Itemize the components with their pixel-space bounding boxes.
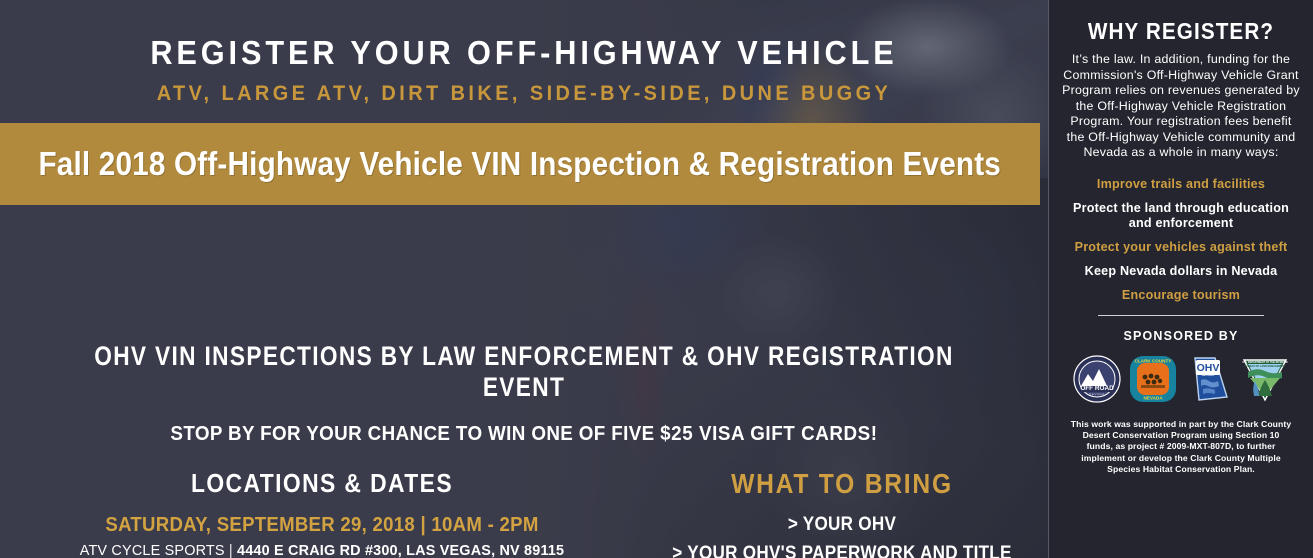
main-panel: REGISTER YOUR OFF-HIGHWAY VEHICLE ATV, L… — [0, 0, 1048, 558]
bring-item: > YOUR OHV'S PAPERWORK AND TITLE — [660, 543, 1024, 558]
clark-county-nevada-logo: CLARK COUNTY NEVADA — [1129, 355, 1177, 403]
prize-line: STOP BY FOR YOUR CHANCE TO WIN ONE OF FI… — [31, 423, 1016, 446]
locations-title: LOCATIONS & DATES — [42, 468, 602, 499]
event-street: 4440 E CRAIG RD #300, LAS VEGAS, NV 8911… — [237, 542, 564, 558]
event-subheadline: OHV VIN INSPECTIONS BY LAW ENFORCEMENT &… — [84, 341, 964, 403]
sidebar-paragraph: It’s the law. In addition, funding for t… — [1062, 52, 1300, 161]
benefit-item: Encourage tourism — [1062, 288, 1300, 303]
sponsored-by-label: SPONSORED BY — [1062, 329, 1300, 343]
benefit-item: Protect your vehicles against theft — [1062, 240, 1300, 255]
svg-text:OFF ROAD: OFF ROAD — [1080, 385, 1114, 392]
off-road-nevada-logo: OFF ROAD NEVADA — [1073, 355, 1121, 403]
why-register-sidebar: WHY REGISTER? It’s the law. In addition,… — [1049, 0, 1313, 558]
event-address: ATV CYCLE SPORTS | 4440 E CRAIG RD #300,… — [17, 542, 628, 558]
svg-text:NEVADA: NEVADA — [1089, 392, 1105, 396]
event-separator: | — [225, 542, 237, 558]
bring-item: > YOUR OHV — [660, 514, 1024, 536]
benefits-list: Improve trails and facilities Protect th… — [1062, 177, 1300, 303]
locations-column: LOCATIONS & DATES SATURDAY, SEPTEMBER 29… — [0, 468, 640, 558]
svg-text:BUREAU OF LAND MANAGEMENT: BUREAU OF LAND MANAGEMENT — [1244, 365, 1286, 368]
blm-logo: U.S. DEPARTMENT OF THE INTERIOR BUREAU O… — [1241, 355, 1289, 403]
svg-text:U.S. DEPARTMENT OF THE INTERIO: U.S. DEPARTMENT OF THE INTERIOR — [1242, 361, 1287, 364]
detail-columns: LOCATIONS & DATES SATURDAY, SEPTEMBER 29… — [0, 468, 1048, 558]
svg-text:NEVADA: NEVADA — [1143, 395, 1163, 400]
vehicle-types-subtitle: ATV, LARGE ATV, DIRT BIKE, SIDE-BY-SIDE,… — [26, 82, 1022, 106]
main-content: REGISTER YOUR OFF-HIGHWAY VEHICLE ATV, L… — [0, 0, 1048, 558]
prize-lead: STOP BY FOR YOUR CHANCE TO WIN ONE OF FI… — [170, 423, 660, 445]
event-item: SATURDAY, SEPTEMBER 29, 2018 | 10AM - 2P… — [4, 514, 640, 558]
ohv-nevada-logo: OHV NEVADA — [1185, 355, 1233, 403]
benefit-item: Protect the land through education and e… — [1062, 201, 1300, 231]
what-to-bring-column: WHAT TO BRING > YOUR OHV > YOUR OHV'S PA… — [640, 468, 1044, 558]
sponsor-logos: OFF ROAD NEVADA CLARK COUNTY NEVADA OHV … — [1062, 355, 1300, 403]
what-to-bring-list: > YOUR OHV > YOUR OHV'S PAPERWORK AND TI… — [640, 514, 1044, 558]
sidebar-title: WHY REGISTER? — [1074, 18, 1288, 45]
what-to-bring-title: WHAT TO BRING — [664, 468, 1020, 500]
svg-text:NEVADA: NEVADA — [1202, 372, 1216, 376]
benefit-item: Improve trails and facilities — [1062, 177, 1300, 192]
benefit-item: Keep Nevada dollars in Nevada — [1062, 264, 1300, 279]
grant-fineprint: This work was supported in part by the C… — [1062, 419, 1300, 476]
flyer-root: REGISTER YOUR OFF-HIGHWAY VEHICLE ATV, L… — [0, 0, 1313, 558]
event-date: SATURDAY, SEPTEMBER 29, 2018 | 10AM - 2P… — [26, 514, 617, 537]
svg-text:CLARK COUNTY: CLARK COUNTY — [1135, 358, 1172, 363]
page-title: REGISTER YOUR OFF-HIGHWAY VEHICLE — [37, 0, 1012, 72]
event-venue: ATV CYCLE SPORTS — [80, 542, 225, 558]
event-banner-text: Fall 2018 Off-Highway Vehicle VIN Inspec… — [39, 145, 1002, 183]
event-banner: Fall 2018 Off-Highway Vehicle VIN Inspec… — [0, 123, 1040, 205]
sidebar-divider — [1098, 315, 1264, 316]
prize-highlight: $25 VISA GIFT CARDS! — [660, 423, 877, 445]
